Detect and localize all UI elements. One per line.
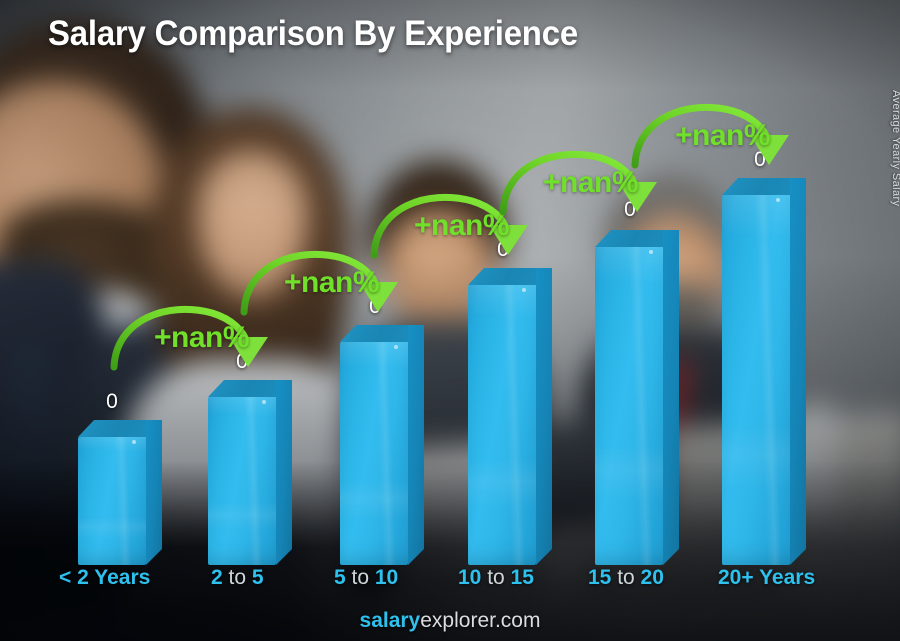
category-label-1: 2 to 5 <box>211 566 264 590</box>
bar-5-front-face <box>722 195 790 565</box>
bar-0-side-face <box>146 420 162 565</box>
category-label-0-suffix: Years <box>94 566 150 589</box>
bar-value-0: 0 <box>92 390 132 414</box>
category-label-3-suffix: 15 <box>505 566 534 589</box>
bar-group-5[interactable] <box>722 0 806 565</box>
category-label-2: 5 to 10 <box>334 566 398 590</box>
category-label-2-soft: to <box>352 566 370 589</box>
bar-5-side-face <box>790 178 806 565</box>
bar-2-side-face <box>408 325 424 565</box>
category-label-3-soft: to <box>487 566 505 589</box>
bar-value-1: 0 <box>222 350 262 374</box>
category-label-2-prefix: 5 <box>334 566 352 589</box>
bar-1-highlight <box>262 400 266 404</box>
bar-group-1[interactable] <box>208 0 292 565</box>
bar-2-front-face <box>340 342 408 565</box>
category-label-1-suffix: 5 <box>246 566 264 589</box>
bar-4[interactable] <box>595 230 679 565</box>
category-label-4-prefix: 15 <box>588 566 617 589</box>
category-label-4-soft: to <box>617 566 635 589</box>
bar-4-front-face <box>595 247 663 565</box>
category-label-3: 10 to 15 <box>458 566 534 590</box>
bar-2[interactable] <box>340 325 424 565</box>
bar-2-highlight <box>394 345 398 349</box>
bar-1[interactable] <box>208 380 292 565</box>
footer-brand[interactable]: salaryexplorer.com <box>0 609 900 633</box>
category-label-4-suffix: 20 <box>635 566 664 589</box>
category-label-0-prefix: < 2 <box>59 566 94 589</box>
bar-1-side-face <box>276 380 292 565</box>
category-label-3-prefix: 10 <box>458 566 487 589</box>
bar-chart: 0 0 0 <box>0 0 900 641</box>
bar-5[interactable] <box>722 178 806 565</box>
footer-brand-rest: explorer.com <box>420 609 540 632</box>
bar-3-front-face <box>468 285 536 565</box>
bar-value-4: 0 <box>610 198 650 222</box>
bar-3-side-face <box>536 268 552 565</box>
category-label-5: 20+ Years <box>718 566 815 590</box>
bar-3-highlight <box>522 288 526 292</box>
bar-value-3: 0 <box>483 238 523 262</box>
bar-group-0[interactable] <box>78 0 162 565</box>
category-label-5-prefix: 20+ <box>718 566 759 589</box>
bar-0-front-face <box>78 437 146 565</box>
bar-3[interactable] <box>468 268 552 565</box>
bar-4-highlight <box>649 250 653 254</box>
bar-0[interactable] <box>78 420 162 565</box>
category-label-4: 15 to 20 <box>588 566 664 590</box>
category-label-1-prefix: 2 <box>211 566 229 589</box>
category-label-2-suffix: 10 <box>369 566 398 589</box>
bar-group-2[interactable] <box>340 0 424 565</box>
category-label-5-suffix: Years <box>759 566 815 589</box>
footer-brand-bold: salary <box>360 609 421 632</box>
bar-5-highlight <box>776 198 780 202</box>
salary-comparison-infographic: Salary Comparison By Experience Average … <box>0 0 900 641</box>
category-label-1-soft: to <box>229 566 247 589</box>
bar-group-4[interactable] <box>595 0 679 565</box>
category-label-0: < 2 Years <box>59 566 150 590</box>
bar-0-highlight <box>132 440 136 444</box>
bar-value-5: 0 <box>740 148 780 172</box>
bar-1-front-face <box>208 397 276 565</box>
bar-value-2: 0 <box>355 295 395 319</box>
bar-4-side-face <box>663 230 679 565</box>
bar-group-3[interactable] <box>468 0 552 565</box>
